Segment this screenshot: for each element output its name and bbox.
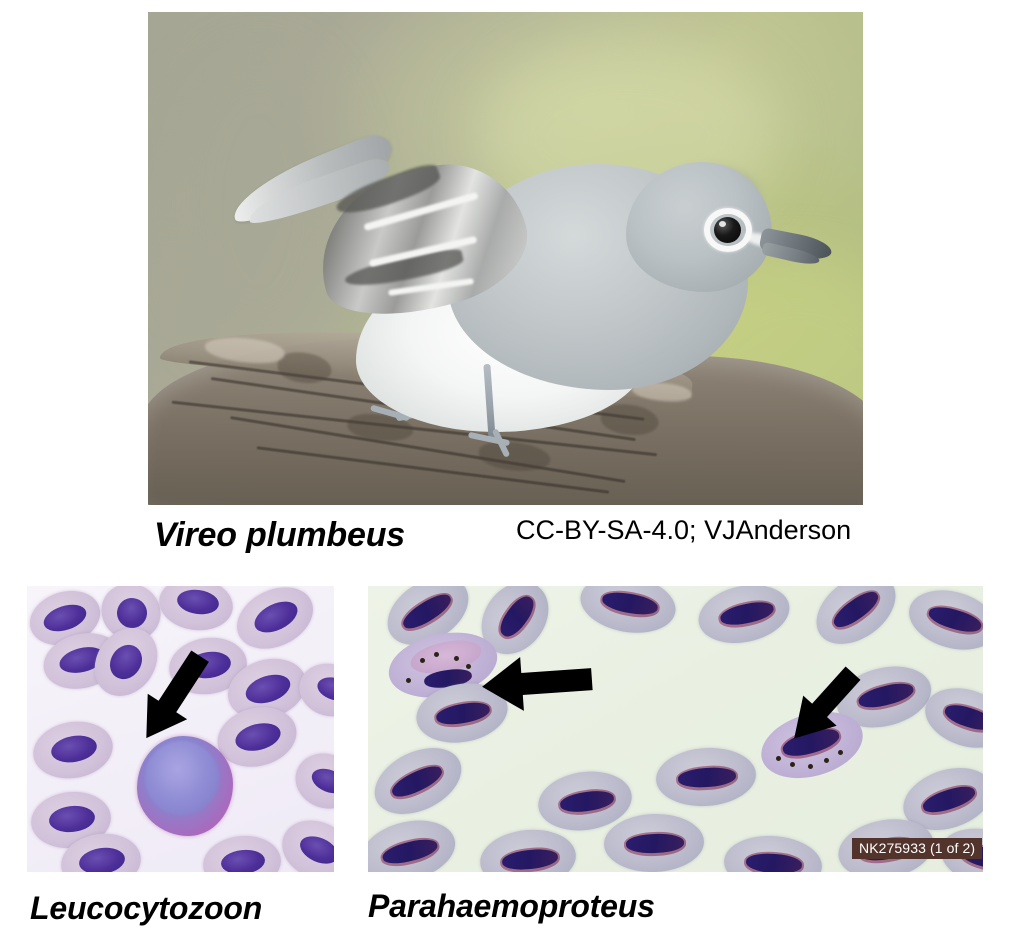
bird-photograph <box>148 12 863 505</box>
bird-species-label: Vireo plumbeus <box>154 516 405 555</box>
leucocytozoon-micrograph <box>27 586 334 872</box>
leucocytozoon-gametocyte-core <box>145 741 219 815</box>
leucocytozoon-indicator-arrow <box>123 642 223 752</box>
specimen-catalog-tag: NK275933 (1 of 2) <box>852 838 982 859</box>
parahaemoproteus-indicator-arrow-left <box>478 646 594 720</box>
vireo-bird <box>148 12 863 505</box>
pigment-granule <box>420 658 425 663</box>
pigment-granule <box>808 764 813 769</box>
pigment-granule <box>454 656 459 661</box>
parahaemoproteus-indicator-arrow-right <box>768 658 878 758</box>
bird-eye-glint <box>719 221 726 227</box>
leucocytozoon-genus-label: Leucocytozoon <box>30 890 262 927</box>
pigment-granule <box>406 678 411 683</box>
parahaemoproteus-genus-label: Parahaemoproteus <box>368 888 655 925</box>
pigment-granule <box>434 652 439 657</box>
bird-eye <box>714 217 741 243</box>
photo-credit-label: CC-BY-SA-4.0; VJAnderson <box>516 515 851 546</box>
pigment-granule <box>466 664 471 669</box>
parahaemoproteus-micrograph <box>368 586 983 872</box>
pigment-granule <box>824 758 829 763</box>
pigment-granule <box>790 762 795 767</box>
